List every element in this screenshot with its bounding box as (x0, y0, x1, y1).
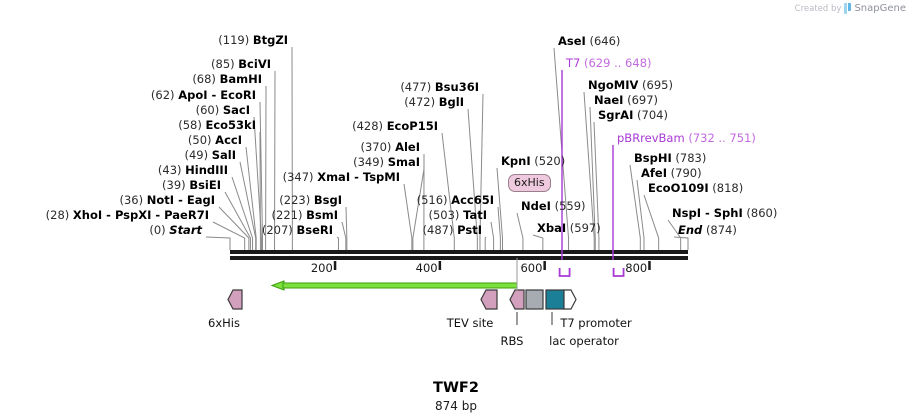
enzyme-name: PspXI (115, 208, 151, 222)
watermark-brand: SnapGene (854, 3, 906, 14)
enzyme-name: PstI (457, 223, 482, 237)
enzyme-name: NgoMIV (588, 78, 638, 92)
enzyme-names: SgrAI (598, 108, 633, 122)
enzyme-name: BspHI (634, 151, 672, 165)
enzyme-position: (221) (272, 208, 303, 222)
enzyme-names: NgoMIV (588, 78, 638, 92)
enzyme-position: (516) (417, 193, 448, 207)
enzyme-label-acci[interactable]: (50) AccI (188, 134, 242, 147)
enzyme-label-tati[interactable]: (503) TatI (429, 209, 488, 222)
enzyme-label-sali[interactable]: (49) SalI (184, 149, 236, 162)
enzyme-label-acc65i[interactable]: (516) Acc65I (417, 194, 494, 207)
enzyme-name: BtgZI (253, 33, 288, 47)
enzyme-label-ecoo109i[interactable]: EcoO109I (818) (648, 182, 743, 195)
enzyme-names: BtgZI (253, 33, 288, 47)
enzyme-names: End (678, 223, 702, 237)
feature-range: (629 .. 648) (584, 56, 652, 70)
enzyme-name: BsgI (314, 193, 342, 207)
enzyme-name: NotI (147, 193, 174, 207)
leader-line-ndei (517, 213, 523, 250)
enzyme-name: SgrAI (598, 108, 633, 122)
enzyme-name: HindIII (185, 163, 228, 177)
enzyme-position: (207) (262, 223, 293, 237)
leader-line-asei (554, 48, 569, 250)
enzyme-position: (520) (534, 154, 565, 168)
enzyme-label-psti[interactable]: (487) PstI (423, 224, 482, 237)
snapgene-watermark: Created by SnapGene (795, 3, 906, 14)
enzyme-position: (58) (178, 118, 202, 132)
enzyme-names: BamHI (220, 72, 262, 86)
enzyme-names: SmaI (388, 155, 420, 169)
snapgene-logo-icon (844, 3, 851, 14)
enzyme-names: XbaI (537, 221, 566, 235)
enzyme-position: (704) (637, 108, 668, 122)
enzyme-name: SalI (212, 148, 236, 162)
watermark-prefix: Created by (795, 4, 842, 14)
enzyme-label-apoi-ecori[interactable]: (62) ApoI - EcoRI (151, 89, 256, 102)
feature-label-pbrrevbam-label[interactable]: pBRrevBam (732 .. 751) (617, 132, 756, 145)
enzyme-name-separator: - (151, 208, 164, 222)
enzyme-name: BseRI (296, 223, 333, 237)
enzyme-names: BspHI (634, 151, 672, 165)
enzyme-position: (28) (46, 208, 70, 222)
enzyme-name-separator: - (102, 208, 115, 222)
ruler-tick (439, 261, 442, 270)
enzyme-position: (860) (746, 206, 777, 220)
plasmid-size: 874 bp (0, 399, 912, 413)
enzyme-name: SmaI (388, 155, 420, 169)
enzyme-names: TatI (463, 208, 487, 222)
backbone-rail-top (230, 250, 688, 254)
enzyme-names: NspI - SphI (672, 206, 743, 220)
enzyme-position: (597) (570, 221, 601, 235)
plasmid-title: TWF2 (0, 380, 912, 396)
enzyme-position: (119) (218, 33, 249, 47)
enzyme-names: NdeI (521, 199, 551, 213)
enzyme-position: (50) (188, 133, 212, 147)
enzyme-position: (223) (279, 193, 310, 207)
leader-line-bsmi (342, 222, 346, 250)
enzyme-position: (49) (184, 148, 208, 162)
enzyme-names: NaeI (594, 93, 623, 107)
track-caption-cap-6xhis: 6xHis (154, 316, 294, 330)
enzyme-position: (43) (158, 163, 182, 177)
enzyme-label-noti-eagi[interactable]: (36) NotI - EagI (120, 194, 216, 207)
leader-line-bseri (337, 237, 338, 250)
enzyme-name: BsiEI (189, 178, 221, 192)
enzyme-name: XmaI (317, 170, 350, 184)
enzyme-name-separator: - (208, 88, 221, 102)
enzyme-position: (783) (675, 151, 706, 165)
enzyme-label-bsphi[interactable]: BspHI (783) (634, 152, 706, 165)
enzyme-names: BseRI (296, 223, 333, 237)
enzyme-position: (428) (352, 119, 383, 133)
enzyme-name: Acc65I (451, 193, 494, 207)
enzyme-label-ecop15i[interactable]: (428) EcoP15I (352, 120, 438, 133)
enzyme-label-saci[interactable]: (60) SacI (196, 104, 250, 117)
enzyme-names: BglI (439, 95, 464, 109)
enzyme-label-asei[interactable]: AseI (646) (558, 35, 620, 48)
ruler-group (334, 261, 651, 270)
leader-line-smai (413, 169, 424, 250)
enzyme-position: (790) (671, 166, 702, 180)
enzyme-names: PstI (457, 223, 482, 237)
leader-line-start (206, 237, 230, 250)
enzyme-name: TspMI (363, 170, 400, 184)
enzyme-name-separator: - (174, 193, 187, 207)
enzyme-label-ngomiv[interactable]: NgoMIV (695) (588, 79, 673, 92)
feature-name: T7 (566, 56, 580, 70)
enzyme-names: EcoO109I (648, 181, 709, 195)
enzyme-names: SacI (223, 103, 250, 117)
enzyme-label-ndei[interactable]: NdeI (559) (521, 200, 586, 213)
enzyme-names: Eco53kI (205, 118, 256, 132)
enzyme-position: (818) (712, 181, 743, 195)
ruler-tick-label: 600 (512, 261, 542, 275)
enzyme-name: Bsu36I (435, 80, 479, 94)
enzyme-label-end[interactable]: End (874) (678, 224, 737, 237)
enzyme-names: KpnI (501, 154, 531, 168)
enzyme-label-bamhi[interactable]: (68) BamHI (192, 73, 262, 86)
leader-line-xmai-tspmi (404, 184, 412, 250)
ruler-tick-label: 200 (303, 261, 333, 275)
enzyme-label-kpni[interactable]: KpnI (520) (501, 155, 565, 168)
enzyme-names: AseI (558, 34, 586, 48)
enzyme-position: (487) (423, 223, 454, 237)
enzyme-label-eco53ki[interactable]: (58) Eco53kI (178, 119, 256, 132)
orf-arrowhead (272, 281, 284, 290)
enzyme-label-smai[interactable]: (349) SmaI (353, 156, 420, 169)
enzyme-label-xmai-tspmi[interactable]: (347) XmaI - TspMI (283, 171, 400, 184)
ruler-tick-label: 400 (408, 261, 438, 275)
enzyme-position: (503) (429, 208, 460, 222)
enzyme-position: (62) (151, 88, 175, 102)
enzyme-position: (60) (196, 103, 220, 117)
6xhis-chip-label: 6xHis (508, 174, 551, 192)
ruler-tick (648, 261, 651, 270)
purple-connector-t7-bracket (560, 268, 570, 276)
leader-line-xbai (533, 235, 543, 250)
enzyme-label-alei[interactable]: (370) AleI (360, 141, 420, 154)
enzyme-names: HindIII (185, 163, 228, 177)
track-glyph-rbs-feature[interactable] (510, 290, 524, 309)
enzyme-position: (477) (400, 80, 431, 94)
enzyme-names: SalI (212, 148, 236, 162)
enzyme-label-bsmi[interactable]: (221) BsmI (272, 209, 338, 222)
ruler-tick (334, 261, 337, 270)
enzyme-name: SphI (714, 206, 743, 220)
enzyme-position: (36) (120, 193, 144, 207)
leader-line-hindiii (232, 177, 253, 250)
enzyme-position: (0) (149, 223, 165, 237)
enzyme-label-bcivi[interactable]: (85) BciVI (211, 58, 271, 71)
ruler-tick (543, 261, 546, 270)
enzyme-position: (370) (360, 140, 391, 154)
enzyme-names: BsmI (306, 208, 338, 222)
enzyme-position: (874) (706, 223, 737, 237)
enzyme-name: BglI (439, 95, 464, 109)
enzyme-name-separator: - (701, 206, 714, 220)
backbone-rail-bottom (230, 256, 688, 260)
enzyme-label-btgzi[interactable]: (119) BtgZI (218, 34, 288, 47)
backbone-group (230, 250, 688, 260)
enzyme-position: (68) (192, 72, 216, 86)
enzyme-label-hindiii[interactable]: (43) HindIII (158, 164, 228, 177)
track-glyph-tev-site-feature[interactable] (481, 290, 497, 309)
enzyme-label-bsgi[interactable]: (223) BsgI (279, 194, 342, 207)
enzyme-label-bseri[interactable]: (207) BseRI (262, 224, 333, 237)
enzyme-position: (695) (642, 78, 673, 92)
track-caption-cap-tev-site: TEV site (400, 316, 540, 330)
enzyme-name: EcoRI (220, 88, 256, 102)
enzyme-name: XhoI (73, 208, 102, 222)
feature-track-group (228, 290, 576, 309)
track-caption-cap-t7-promoter: T7 promoter (526, 316, 666, 330)
feature-name: pBRrevBam (617, 131, 685, 145)
enzyme-position: (349) (353, 155, 384, 169)
orf-arrow-body (283, 283, 517, 288)
enzyme-name: AseI (558, 34, 586, 48)
enzyme-name: AfeI (641, 166, 667, 180)
leader-line-bsphi (630, 165, 640, 250)
enzyme-names: BciVI (238, 57, 271, 71)
enzyme-label-xhoi[interactable]: (28) XhoI - PspXI - PaeR7I (46, 209, 209, 222)
enzyme-position: (646) (589, 34, 620, 48)
enzyme-names: XhoI - PspXI - PaeR7I (73, 208, 209, 222)
leader-line-xhoi (213, 222, 245, 250)
enzyme-position: (472) (404, 95, 435, 109)
enzyme-label-xbai[interactable]: XbaI (597) (537, 222, 601, 235)
enzyme-name-separator: - (350, 170, 363, 184)
leader-line-tati (491, 222, 494, 250)
track-glyph-lac-operator-feature[interactable] (564, 290, 576, 309)
enzyme-name: SacI (223, 103, 250, 117)
enzyme-label-bsiei[interactable]: (39) BsiEI (162, 179, 221, 192)
enzyme-name: Eco53kI (205, 118, 256, 132)
plasmid-map: Created by SnapGene (119) BtgZI(85) BciV… (0, 0, 912, 420)
enzyme-label-nspi-sphi[interactable]: NspI - SphI (860) (672, 207, 777, 220)
enzyme-label-sgrai[interactable]: SgrAI (704) (598, 109, 668, 122)
track-glyph-t7-promoter-feature[interactable] (546, 290, 564, 309)
enzyme-name: PaeR7I (164, 208, 209, 222)
enzyme-label-bgli[interactable]: (472) BglI (404, 96, 464, 109)
enzyme-names: XmaI - TspMI (317, 170, 400, 184)
track-glyph-rbs-box-feature[interactable] (526, 290, 543, 309)
enzyme-names: EcoP15I (387, 119, 438, 133)
feature-label-t7-label[interactable]: T7 (629 .. 648) (566, 57, 652, 70)
enzyme-name: End (678, 223, 702, 237)
enzyme-name: XbaI (537, 221, 566, 235)
enzyme-name: BamHI (220, 72, 262, 86)
enzyme-names: BsiEI (189, 178, 221, 192)
enzyme-position: (697) (627, 93, 658, 107)
feature-range: (732 .. 751) (688, 131, 756, 145)
enzyme-name: KpnI (501, 154, 531, 168)
enzyme-name: ApoI (178, 88, 207, 102)
enzyme-name: EagI (187, 193, 215, 207)
enzyme-name: AleI (395, 140, 420, 154)
enzyme-names: ApoI - EcoRI (178, 88, 256, 102)
enzyme-names: BsgI (314, 193, 342, 207)
enzyme-names: AleI (395, 140, 420, 154)
enzyme-label-naei[interactable]: NaeI (697) (594, 94, 658, 107)
enzyme-name: NdeI (521, 199, 551, 213)
leader-line-psti (485, 237, 486, 250)
enzyme-name: BsmI (306, 208, 338, 222)
enzyme-name: NaeI (594, 93, 623, 107)
enzyme-label-bsu36i[interactable]: (477) Bsu36I (400, 81, 479, 94)
enzyme-name: AccI (215, 133, 242, 147)
enzyme-name: NspI (672, 206, 701, 220)
track-glyph-6xhis-feature[interactable] (228, 290, 242, 309)
enzyme-name: TatI (463, 208, 487, 222)
enzyme-label-start[interactable]: (0) Start (149, 224, 202, 237)
6xhis-chip-text: 6xHis (514, 176, 545, 189)
ruler-tick-label: 800 (617, 261, 647, 275)
enzyme-name: BciVI (238, 57, 271, 71)
enzyme-names: NotI - EagI (147, 193, 215, 207)
enzyme-position: (39) (162, 178, 186, 192)
enzyme-names: AfeI (641, 166, 667, 180)
track-caption-cap-lac-operator: lac operator (514, 334, 654, 348)
enzyme-name: EcoP15I (387, 119, 438, 133)
enzyme-position: (347) (283, 170, 314, 184)
enzyme-position: (85) (211, 57, 235, 71)
enzyme-label-afei[interactable]: AfeI (790) (641, 167, 702, 180)
enzyme-name: Start (169, 223, 202, 237)
enzyme-names: Bsu36I (435, 80, 479, 94)
enzyme-names: Acc65I (451, 193, 494, 207)
enzyme-position: (559) (555, 199, 586, 213)
enzyme-names: Start (169, 223, 202, 237)
leader-line-ecoo109i (644, 195, 659, 250)
enzyme-names: AccI (215, 133, 242, 147)
enzyme-name: EcoO109I (648, 181, 709, 195)
leader-line-acc65i (498, 207, 500, 250)
